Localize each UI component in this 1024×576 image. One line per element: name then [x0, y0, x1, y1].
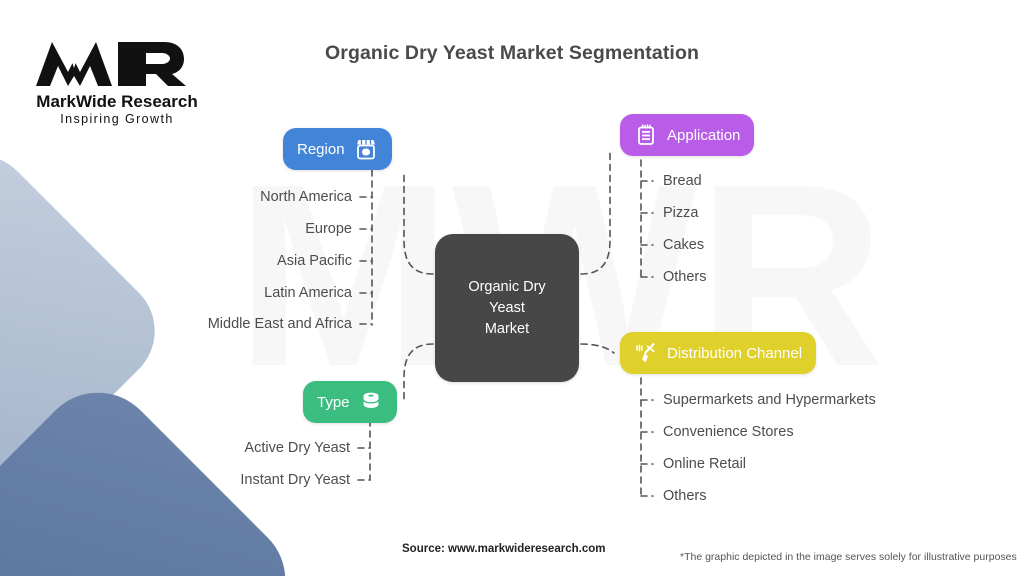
branch-label-region: Region — [297, 141, 345, 158]
center-line-3: Market — [485, 321, 529, 337]
center-node[interactable]: Organic Dry Yeast Market — [435, 234, 579, 382]
branch-badge-type[interactable]: Type — [303, 381, 397, 423]
link-center-application — [581, 150, 610, 274]
leaf-region-3[interactable]: Latin America — [264, 285, 352, 301]
branch-label-distribution: Distribution Channel — [667, 345, 802, 362]
ticks-type — [358, 448, 370, 480]
leaf-distribution-0[interactable]: Supermarkets and Hypermarkets — [663, 392, 876, 408]
ticks-distribution — [641, 400, 653, 496]
barcode-scanner-icon — [634, 341, 658, 365]
leaf-distribution-3[interactable]: Others — [663, 488, 707, 504]
branch-label-type: Type — [317, 394, 350, 411]
leaf-application-1[interactable]: Pizza — [663, 205, 698, 221]
leaf-type-0[interactable]: Active Dry Yeast — [244, 440, 350, 456]
ticks-application — [641, 181, 653, 277]
leaf-region-2[interactable]: Asia Pacific — [277, 253, 352, 269]
leaf-region-0[interactable]: North America — [260, 189, 352, 205]
storefront-icon — [354, 137, 378, 161]
leaf-region-1[interactable]: Europe — [305, 221, 352, 237]
link-center-distribution — [581, 344, 614, 353]
leaf-type-1[interactable]: Instant Dry Yeast — [240, 472, 350, 488]
leaf-application-2[interactable]: Cakes — [663, 237, 704, 253]
branch-badge-region[interactable]: Region — [283, 128, 392, 170]
source-text: Source: www.markwideresearch.com — [402, 543, 605, 555]
leaf-region-4[interactable]: Middle East and Africa — [208, 316, 352, 332]
branch-badge-distribution[interactable]: Distribution Channel — [620, 332, 816, 374]
branch-badge-application[interactable]: Application — [620, 114, 754, 156]
branch-label-application: Application — [667, 127, 740, 144]
link-center-type — [404, 344, 433, 400]
ticks-region — [360, 197, 372, 324]
clipboard-icon — [634, 123, 658, 147]
leaf-distribution-2[interactable]: Online Retail — [663, 456, 746, 472]
link-center-region — [404, 175, 433, 274]
center-node-label: Organic Dry Yeast Market — [468, 277, 545, 340]
leaf-distribution-1[interactable]: Convenience Stores — [663, 424, 794, 440]
center-line-1: Organic Dry — [468, 279, 545, 295]
leaf-application-3[interactable]: Others — [663, 269, 707, 285]
disclaimer-text: *The graphic depicted in the image serve… — [680, 551, 1017, 563]
diagram-canvas: MWR MarkWide Research Inspiring Growth O… — [0, 0, 1024, 576]
leaf-application-0[interactable]: Bread — [663, 173, 702, 189]
center-line-2: Yeast — [489, 300, 525, 316]
database-icon — [359, 390, 383, 414]
